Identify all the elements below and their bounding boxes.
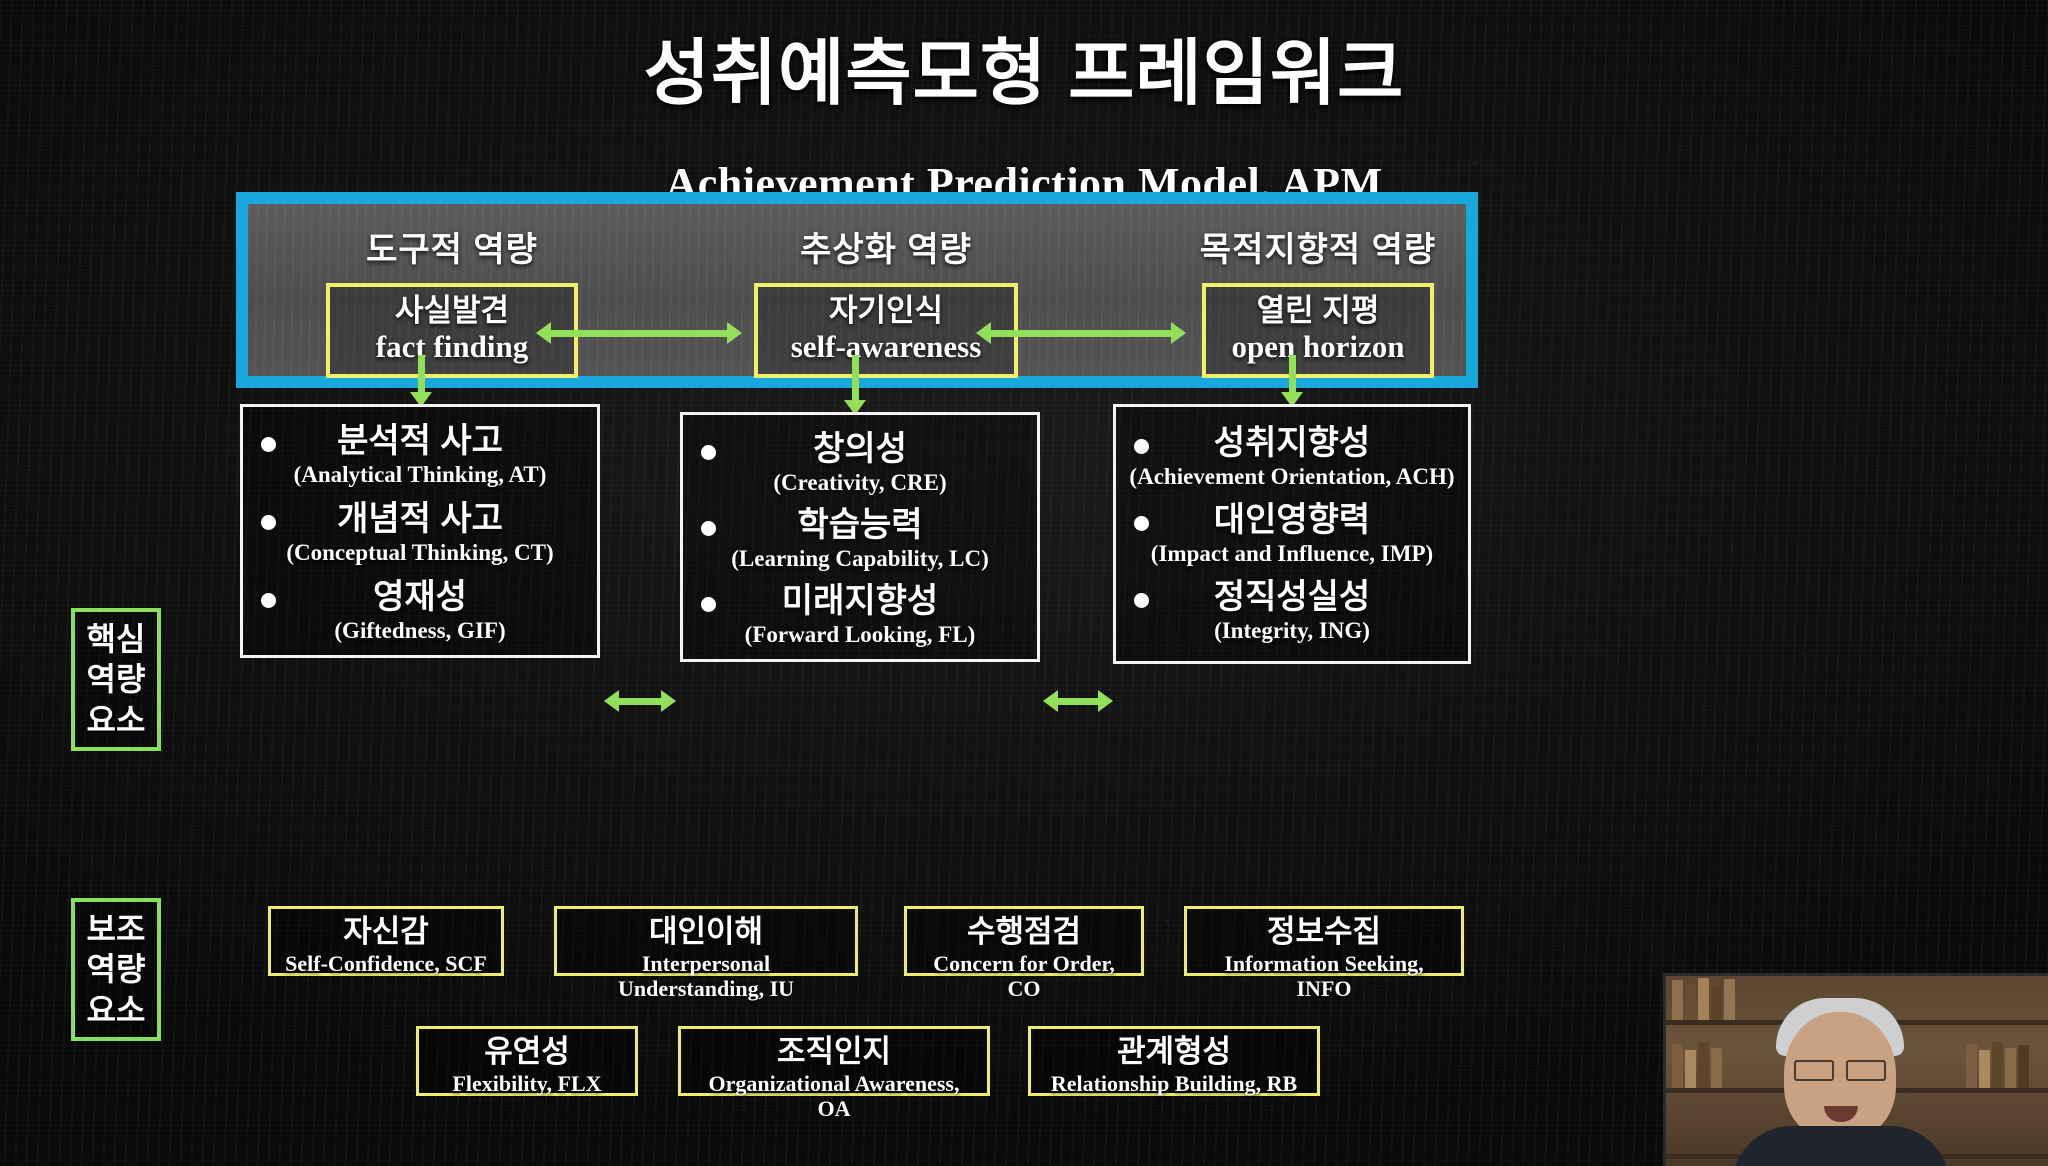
capability-header-purpose-oriented: 목적지향적 역량 [1168, 222, 1468, 271]
arrow-shaft [1056, 698, 1100, 705]
bullet-icon [261, 515, 276, 530]
arrow-shaft [549, 330, 729, 337]
core-item-kr: 정직성실성 [1116, 579, 1468, 616]
core-item-en: (Integrity, ING) [1116, 618, 1468, 644]
side-label-line: 역량 [85, 949, 147, 989]
arrow-head-right-icon [727, 322, 742, 344]
support-item-kr: 유연성 [433, 1035, 621, 1070]
side-label-support-competency: 보조 역량 요소 [71, 898, 161, 1041]
book [1711, 1048, 1722, 1088]
side-label-line: 보조 [85, 909, 147, 949]
core-competency-item: 성취지향성 (Achievement Orientation, ACH) [1116, 425, 1468, 491]
support-item-en: Information Seeking, INFO [1201, 951, 1447, 1002]
support-competency-box-concern-for-order[interactable]: 수행점검 Concern for Order, CO [904, 906, 1144, 976]
webcam-video-overlay[interactable] [1663, 973, 2048, 1166]
core-item-en: (Creativity, CRE) [683, 470, 1037, 496]
side-label-line: 역량 [85, 659, 147, 699]
arrow-shaft [418, 355, 425, 394]
glasses-lens-left [1794, 1060, 1834, 1081]
bullet-icon [1134, 516, 1149, 531]
core-item-en: (Forward Looking, FL) [683, 622, 1037, 648]
arrow-head-right-icon [1098, 690, 1113, 712]
bullet-icon [701, 445, 716, 460]
core-item-kr: 창의성 [683, 431, 1037, 468]
arrow-core-a-to-core-b [604, 694, 676, 708]
support-item-kr: 대인이해 [571, 915, 841, 950]
core-item-en: (Learning Capability, LC) [683, 546, 1037, 572]
support-competency-box-information-seeking[interactable]: 정보수집 Information Seeking, INFO [1184, 906, 1464, 976]
bullet-icon [261, 593, 276, 608]
book [2005, 1048, 2016, 1088]
book [1672, 1044, 1683, 1088]
support-item-en: Relationship Building, RB [1045, 1071, 1303, 1096]
book [1685, 984, 1696, 1020]
capability-column-purpose-oriented: 목적지향적 역량 열린 지평 open horizon [1168, 222, 1468, 378]
book [1992, 1042, 2003, 1088]
arrow-down-to-core-c [1285, 355, 1299, 407]
support-item-kr: 정보수집 [1201, 915, 1447, 950]
support-item-en: Organizational Awareness, OA [695, 1071, 973, 1122]
glasses-lens-right [1846, 1060, 1886, 1081]
book [1979, 1050, 1990, 1088]
person-torso [1732, 1126, 1950, 1166]
arrow-fact-finding-to-self-awareness [536, 326, 742, 340]
capability-box-kr-label: 자기인식 [774, 294, 998, 329]
bullet-icon [701, 521, 716, 536]
bullet-icon [1134, 593, 1149, 608]
core-item-kr: 대인영향력 [1116, 502, 1468, 539]
support-competency-box-organizational-awareness[interactable]: 조직인지 Organizational Awareness, OA [678, 1026, 990, 1096]
arrow-self-awareness-to-open-horizon [976, 326, 1186, 340]
core-item-kr: 영재성 [243, 579, 597, 616]
glasses-icon [1794, 1060, 1886, 1077]
core-competency-box-instrumental: 분석적 사고 (Analytical Thinking, AT) 개념적 사고 … [240, 404, 600, 658]
core-competency-item: 대인영향력 (Impact and Influence, IMP) [1116, 502, 1468, 568]
core-item-en: (Impact and Influence, IMP) [1116, 541, 1468, 567]
capability-header-abstraction: 추상화 역량 [736, 222, 1036, 271]
core-competency-item: 정직성실성 (Integrity, ING) [1116, 579, 1468, 645]
support-item-en: Flexibility, FLX [433, 1071, 621, 1096]
side-label-line: 핵심 [85, 619, 147, 659]
book [1966, 1044, 1977, 1088]
capability-box-en-label: open horizon [1222, 330, 1414, 365]
support-item-kr: 관계형성 [1045, 1035, 1303, 1070]
core-competency-item: 창의성 (Creativity, CRE) [683, 431, 1037, 497]
support-item-en: Self-Confidence, SCF [285, 951, 487, 976]
arrow-head-right-icon [661, 690, 676, 712]
core-item-kr: 미래지향성 [683, 583, 1037, 620]
support-item-en: Concern for Order, CO [921, 951, 1127, 1002]
capability-box-en-label: fact finding [346, 330, 558, 365]
capability-box-en-label: self-awareness [774, 330, 998, 365]
core-item-kr: 개념적 사고 [243, 501, 597, 538]
book [1672, 980, 1683, 1020]
core-competency-item: 분석적 사고 (Analytical Thinking, AT) [243, 423, 597, 489]
bullet-icon [1134, 439, 1149, 454]
book [1698, 978, 1709, 1020]
side-label-core-competency: 핵심 역량 요소 [71, 608, 161, 751]
core-competency-item: 학습능력 (Learning Capability, LC) [683, 507, 1037, 573]
core-item-kr: 학습능력 [683, 507, 1037, 544]
core-competency-item: 미래지향성 (Forward Looking, FL) [683, 583, 1037, 649]
core-competency-box-abstraction: 창의성 (Creativity, CRE) 학습능력 (Learning Cap… [680, 412, 1040, 662]
capability-box-open-horizon[interactable]: 열린 지평 open horizon [1202, 283, 1434, 378]
side-label-line: 요소 [85, 990, 147, 1030]
support-item-kr: 조직인지 [695, 1035, 973, 1070]
arrow-shaft [1289, 355, 1296, 394]
arrow-down-to-core-a [414, 355, 428, 407]
core-item-kr: 성취지향성 [1116, 425, 1468, 462]
arrow-core-b-to-core-c [1043, 694, 1113, 708]
support-item-en: Interpersonal Understanding, IU [571, 951, 841, 1002]
core-item-en: (Achievement Orientation, ACH) [1116, 464, 1468, 490]
capability-column-abstraction: 추상화 역량 자기인식 self-awareness [736, 222, 1036, 378]
bullet-icon [701, 597, 716, 612]
core-item-en: (Analytical Thinking, AT) [243, 462, 597, 488]
support-competency-box-relationship-building[interactable]: 관계형성 Relationship Building, RB [1028, 1026, 1320, 1096]
book [1685, 1050, 1696, 1088]
capability-header-instrumental: 도구적 역량 [302, 222, 602, 271]
capability-box-kr-label: 열린 지평 [1222, 294, 1414, 329]
page-title: 성취예측모형 프레임워크 [0, 36, 2048, 112]
core-item-kr: 분석적 사고 [243, 423, 597, 460]
capability-box-kr-label: 사실발견 [346, 294, 558, 329]
book [1711, 986, 1722, 1020]
core-competency-item: 영재성 (Giftedness, GIF) [243, 579, 597, 645]
arrow-shaft [852, 355, 859, 402]
arrow-shaft [989, 330, 1173, 337]
capability-column-instrumental: 도구적 역량 사실발견 fact finding [302, 222, 602, 378]
side-label-line: 요소 [85, 700, 147, 740]
support-competency-box-self-confidence[interactable]: 자신감 Self-Confidence, SCF [268, 906, 504, 976]
arrow-head-right-icon [1171, 322, 1186, 344]
support-competency-box-flexibility[interactable]: 유연성 Flexibility, FLX [416, 1026, 638, 1096]
core-competency-item: 개념적 사고 (Conceptual Thinking, CT) [243, 501, 597, 567]
arrow-down-to-core-b [848, 355, 862, 415]
book [1698, 1042, 1709, 1088]
book [2018, 1045, 2029, 1088]
support-item-kr: 자신감 [285, 915, 487, 950]
core-item-en: (Giftedness, GIF) [243, 618, 597, 644]
support-competency-box-interpersonal-understanding[interactable]: 대인이해 Interpersonal Understanding, IU [554, 906, 858, 976]
support-item-kr: 수행점검 [921, 915, 1127, 950]
core-competency-box-purpose-oriented: 성취지향성 (Achievement Orientation, ACH) 대인영… [1113, 404, 1471, 664]
bullet-icon [261, 437, 276, 452]
arrow-shaft [617, 698, 663, 705]
core-item-en: (Conceptual Thinking, CT) [243, 540, 597, 566]
book [1724, 979, 1735, 1020]
